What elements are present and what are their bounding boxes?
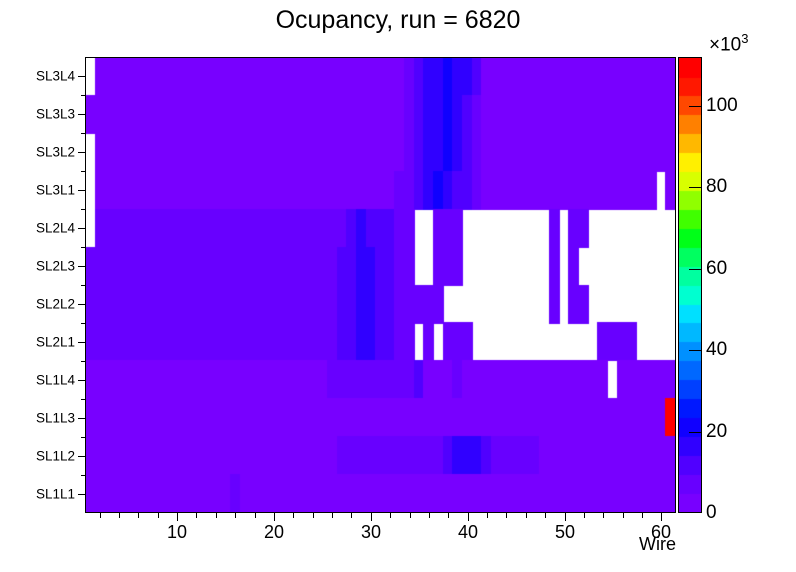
x-axis-tick — [158, 513, 159, 518]
x-axis-tick — [255, 513, 256, 518]
y-axis-tick — [78, 342, 85, 343]
root-canvas: Ocupancy, run = 6820 SL3L4SL3L3SL3L2SL3L… — [0, 0, 796, 572]
color-scale-gradient — [679, 58, 701, 512]
x-axis-tick — [642, 513, 643, 518]
color-scale-bar — [678, 57, 702, 513]
y-axis-tick — [78, 114, 85, 115]
y-axis-label-sl2l3: SL2L3 — [36, 259, 75, 274]
x-axis-tick — [661, 513, 662, 521]
x-axis-tick — [584, 513, 585, 518]
y-axis-tick — [78, 190, 85, 191]
x-axis-tick — [313, 513, 314, 518]
color-scale-label-80: 80 — [706, 176, 727, 198]
x-axis-tick — [487, 513, 488, 518]
x-axis-tick — [448, 513, 449, 518]
y-axis-label-sl2l2: SL2L2 — [36, 297, 75, 312]
y-axis-minor-tick — [81, 437, 85, 438]
x-axis-tick — [390, 513, 391, 518]
y-axis-tick — [78, 152, 85, 153]
color-scale-label-60: 60 — [706, 258, 727, 280]
y-axis-minor-tick — [81, 361, 85, 362]
heatmap-cells[interactable] — [86, 58, 675, 512]
x-axis-label-50: 50 — [555, 522, 575, 543]
y-axis-minor-tick — [81, 475, 85, 476]
x-axis-tick — [468, 513, 469, 521]
color-scale-label-0: 0 — [706, 502, 717, 524]
color-scale-tick — [689, 432, 702, 433]
y-axis-label-sl1l4: SL1L4 — [36, 373, 75, 388]
y-axis-label-sl1l2: SL1L2 — [36, 449, 75, 464]
x-axis-tick — [410, 513, 411, 518]
y-axis-label-sl1l3: SL1L3 — [36, 411, 75, 426]
y-axis-tick — [78, 304, 85, 305]
x-axis-title: Wire — [639, 534, 676, 555]
x-axis-tick — [177, 513, 178, 521]
x-axis-tick — [332, 513, 333, 518]
x-axis-label-20: 20 — [264, 522, 284, 543]
x-axis-tick — [138, 513, 139, 518]
color-scale-axis: 020406080100 — [702, 57, 792, 513]
x-axis-tick — [565, 513, 566, 521]
y-axis-minor-tick — [81, 285, 85, 286]
y-axis-label-sl3l1: SL3L1 — [36, 183, 75, 198]
x-axis-label-10: 10 — [167, 522, 187, 543]
y-axis-minor-tick — [81, 95, 85, 96]
color-scale-exponent: ×103 — [709, 31, 748, 56]
x-axis-label-30: 30 — [361, 522, 381, 543]
color-scale-tick — [689, 187, 702, 188]
x-axis-tick — [100, 513, 101, 518]
chart-title: Ocupancy, run = 6820 — [0, 6, 796, 35]
x-axis-tick — [603, 513, 604, 518]
y-axis-tick — [78, 266, 85, 267]
color-scale-label-20: 20 — [706, 421, 727, 443]
x-axis-tick — [351, 513, 352, 518]
x-axis-tick — [293, 513, 294, 518]
y-axis-label-sl2l1: SL2L1 — [36, 335, 75, 350]
x-axis-tick — [429, 513, 430, 518]
y-axis-tick — [78, 380, 85, 381]
y-axis-tick — [78, 228, 85, 229]
color-scale-tick — [689, 106, 702, 107]
y-axis-label-sl1l1: SL1L1 — [36, 487, 75, 502]
x-axis-tick — [371, 513, 372, 521]
y-axis: SL3L4SL3L3SL3L2SL3L1SL2L4SL2L3SL2L2SL2L1… — [0, 57, 85, 513]
color-scale-tick — [689, 350, 702, 351]
x-axis-tick — [623, 513, 624, 518]
y-axis-label-sl3l2: SL3L2 — [36, 145, 75, 160]
y-axis-minor-tick — [81, 247, 85, 248]
x-axis: 102030405060 — [85, 513, 676, 559]
x-axis-tick — [196, 513, 197, 518]
color-scale-label-100: 100 — [706, 95, 738, 117]
x-axis-tick — [506, 513, 507, 518]
x-axis-label-40: 40 — [458, 522, 478, 543]
y-axis-tick — [78, 418, 85, 419]
x-axis-tick — [235, 513, 236, 518]
y-axis-label-sl2l4: SL2L4 — [36, 221, 75, 236]
y-axis-tick — [78, 494, 85, 495]
color-scale-label-40: 40 — [706, 339, 727, 361]
y-axis-minor-tick — [81, 399, 85, 400]
x-axis-tick — [119, 513, 120, 518]
heatmap-plot-area[interactable] — [85, 57, 676, 513]
y-axis-tick — [78, 456, 85, 457]
x-axis-tick — [545, 513, 546, 518]
y-axis-label-sl3l4: SL3L4 — [36, 69, 75, 84]
x-axis-tick — [216, 513, 217, 518]
y-axis-label-sl3l3: SL3L3 — [36, 107, 75, 122]
x-axis-tick — [526, 513, 527, 518]
y-axis-tick — [78, 76, 85, 77]
y-axis-minor-tick — [81, 133, 85, 134]
x-axis-tick — [274, 513, 275, 521]
color-scale-tick — [689, 269, 702, 270]
y-axis-minor-tick — [81, 323, 85, 324]
y-axis-minor-tick — [81, 171, 85, 172]
y-axis-minor-tick — [81, 209, 85, 210]
